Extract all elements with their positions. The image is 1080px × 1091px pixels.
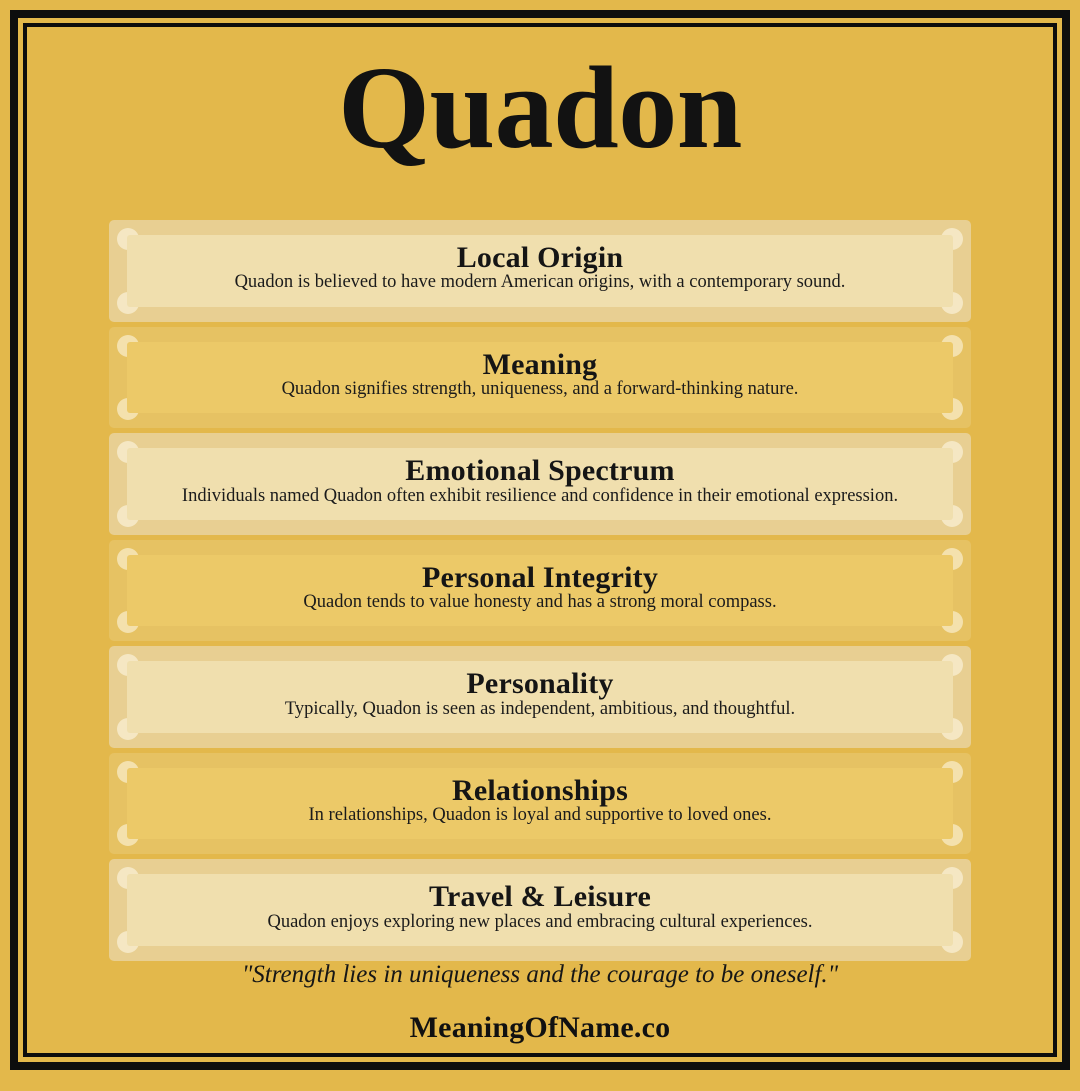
attribute-card-panel: Travel & LeisureQuadon enjoys exploring …: [127, 874, 953, 946]
attribute-card: RelationshipsIn relationships, Quadon is…: [109, 753, 971, 855]
attribute-card-panel: Personal IntegrityQuadon tends to value …: [127, 555, 953, 627]
attribute-card-body: Quadon enjoys exploring new places and e…: [153, 911, 927, 933]
brand-name: MeaningOfName.co: [109, 1011, 971, 1045]
attribute-card-panel: Emotional SpectrumIndividuals named Quad…: [127, 448, 953, 520]
page-title: Quadon: [338, 27, 742, 167]
attribute-card-body: Individuals named Quadon often exhibit r…: [153, 485, 927, 507]
attribute-card-panel: PersonalityTypically, Quadon is seen as …: [127, 661, 953, 733]
attribute-card-body: Typically, Quadon is seen as independent…: [153, 698, 927, 720]
attribute-card-panel: Local OriginQuadon is believed to have m…: [127, 235, 953, 307]
poster-canvas: Quadon Local OriginQuadon is believed to…: [0, 0, 1080, 1080]
attribute-card: Local OriginQuadon is believed to have m…: [109, 220, 971, 322]
attribute-card: Travel & LeisureQuadon enjoys exploring …: [109, 859, 971, 961]
attribute-card-list: Local OriginQuadon is believed to have m…: [109, 220, 971, 961]
attribute-card: MeaningQuadon signifies strength, unique…: [109, 327, 971, 429]
attribute-card-body: Quadon tends to value honesty and has a …: [153, 591, 927, 613]
attribute-card-panel: RelationshipsIn relationships, Quadon is…: [127, 768, 953, 840]
attribute-card-body: Quadon signifies strength, uniqueness, a…: [153, 378, 927, 400]
attribute-card-title: Local Origin: [153, 242, 927, 274]
attribute-card-title: Travel & Leisure: [153, 881, 927, 913]
attribute-card-title: Meaning: [153, 349, 927, 381]
attribute-card-title: Relationships: [153, 775, 927, 807]
attribute-card: Emotional SpectrumIndividuals named Quad…: [109, 433, 971, 535]
poster-content: Quadon Local OriginQuadon is believed to…: [27, 27, 1053, 1053]
attribute-card-panel: MeaningQuadon signifies strength, unique…: [127, 342, 953, 414]
attribute-card-title: Personality: [153, 668, 927, 700]
attribute-card: PersonalityTypically, Quadon is seen as …: [109, 646, 971, 748]
attribute-card-body: Quadon is believed to have modern Americ…: [153, 271, 927, 293]
attribute-card-title: Personal Integrity: [153, 562, 927, 594]
attribute-card-body: In relationships, Quadon is loyal and su…: [153, 804, 927, 826]
attribute-card-title: Emotional Spectrum: [153, 455, 927, 487]
quote-text: "Strength lies in uniqueness and the cou…: [109, 961, 971, 989]
attribute-card: Personal IntegrityQuadon tends to value …: [109, 540, 971, 642]
poster-footer: "Strength lies in uniqueness and the cou…: [109, 961, 971, 1091]
